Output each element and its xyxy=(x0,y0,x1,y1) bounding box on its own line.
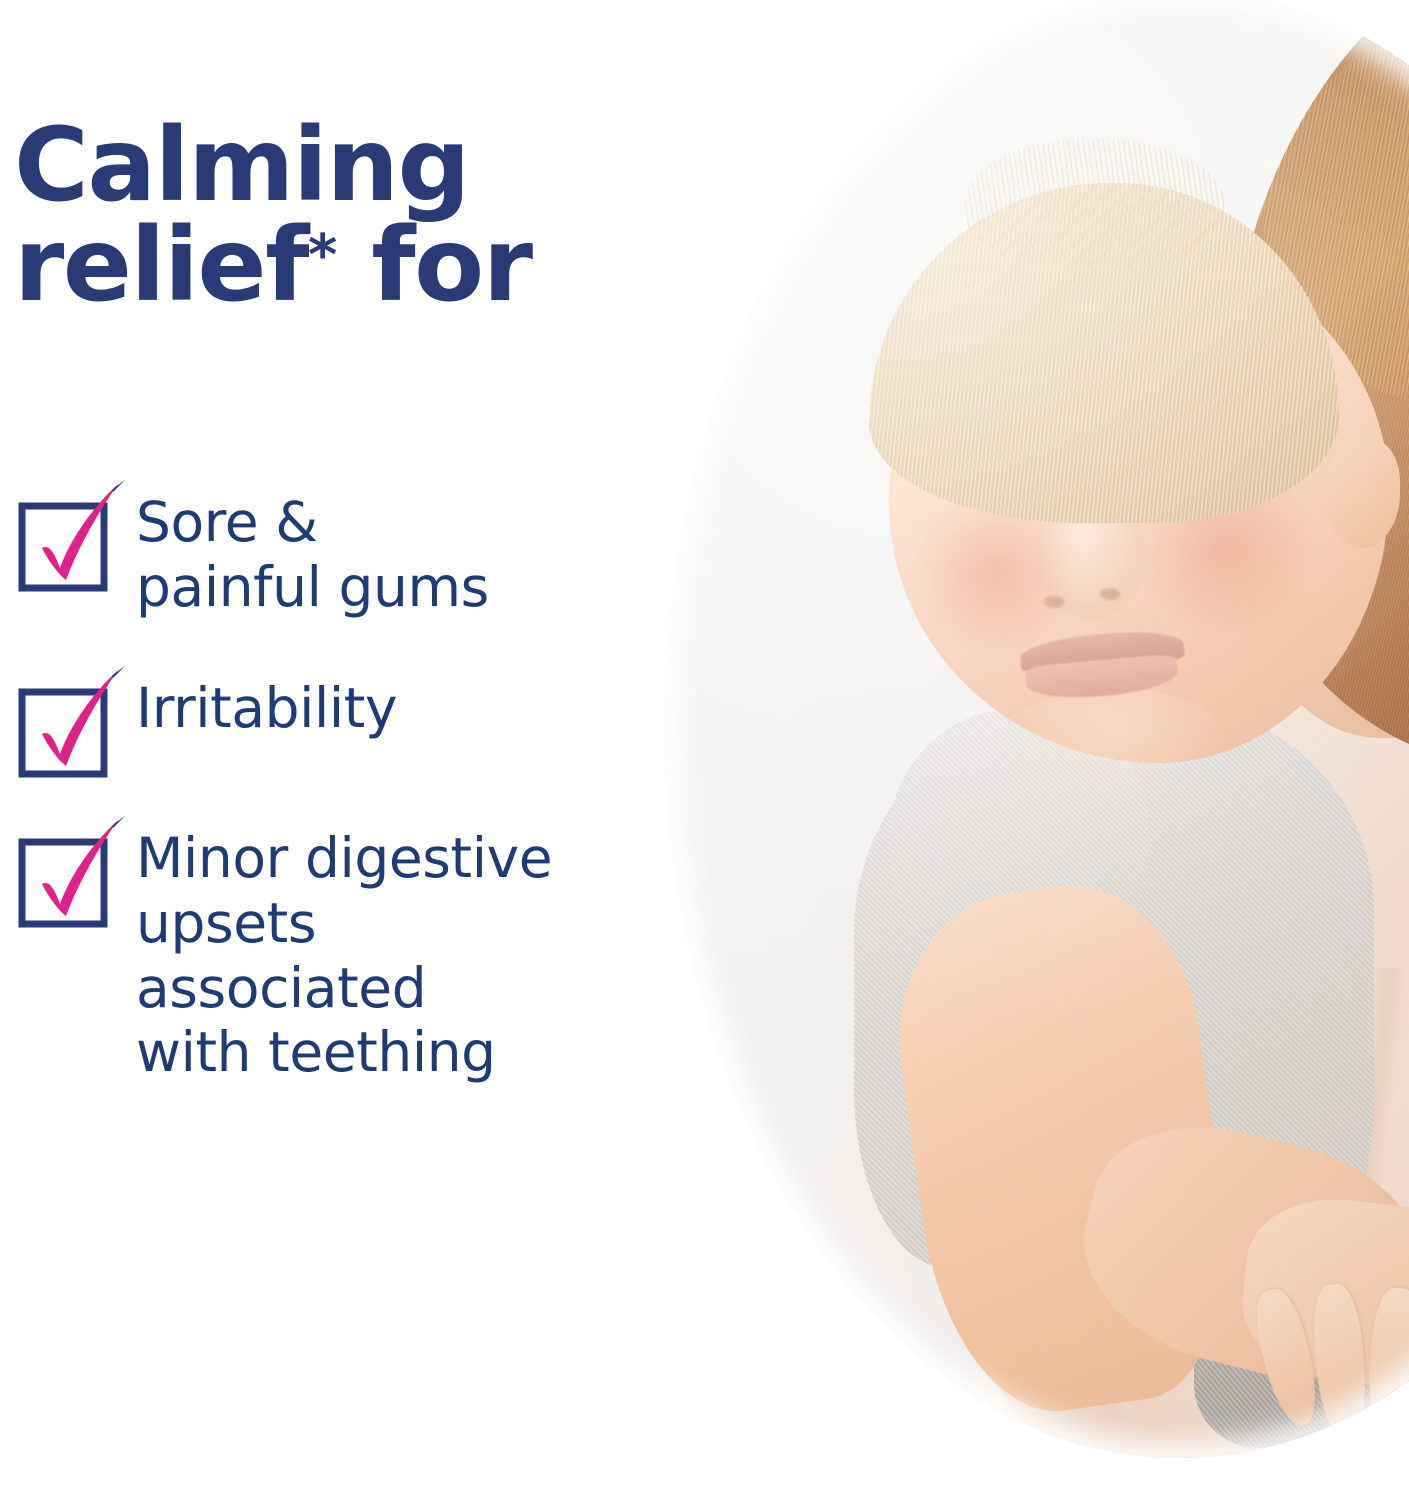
checked-checkbox-icon xyxy=(14,834,100,920)
headline-line-2: relief xyxy=(14,206,308,325)
page-title: Calming relief* for xyxy=(14,116,532,316)
baby-nostril xyxy=(1100,588,1120,600)
mother-and-baby-photo xyxy=(664,0,1409,1458)
promo-banner: Calming relief* for Sore & painful gums xyxy=(0,0,1409,1500)
checked-checkbox-icon xyxy=(14,684,100,770)
benefit-label: Irritability xyxy=(136,676,397,741)
footnote-marker: * xyxy=(308,223,337,288)
benefits-list: Sore & painful gums Irritability xyxy=(14,490,674,1085)
baby-chin xyxy=(994,688,1234,818)
benefit-label: Sore & painful gums xyxy=(136,490,489,620)
photo-area xyxy=(620,0,1409,1500)
list-item: Irritability xyxy=(14,676,674,770)
baby-ear xyxy=(1324,438,1400,548)
baby-hair-wisps xyxy=(964,138,1224,268)
baby-nostril xyxy=(1044,596,1064,608)
list-item: Sore & painful gums xyxy=(14,490,674,620)
checked-checkbox-icon xyxy=(14,498,100,584)
benefit-label: Minor digestive upsets associated with t… xyxy=(136,826,552,1086)
copy-column: Calming relief* for Sore & painful gums xyxy=(0,0,700,1500)
list-item: Minor digestive upsets associated with t… xyxy=(14,826,674,1086)
photo-circle-mask xyxy=(664,0,1409,1458)
headline-line-2-tail: for xyxy=(337,206,531,325)
